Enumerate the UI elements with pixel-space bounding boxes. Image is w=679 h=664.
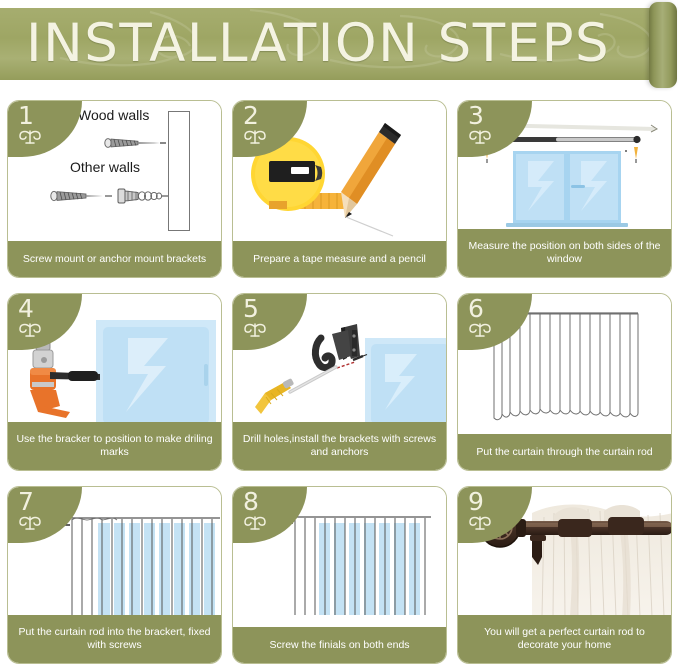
step-card-2[interactable]: 2 Prepare a tape measure and a pencil: [232, 100, 447, 278]
step-3-badge: 3: [458, 101, 532, 157]
window-icon: [365, 338, 446, 424]
step-number: 8: [243, 488, 259, 516]
fleur-de-lis-icon: [465, 513, 495, 533]
step-5-badge: 5: [233, 294, 307, 350]
step-5-caption: Drill holes,install the brackets with sc…: [233, 422, 446, 470]
step-number: 7: [18, 488, 34, 516]
fleur-de-lis-icon: [15, 320, 45, 340]
step-number: 3: [468, 102, 484, 130]
step-number: 9: [468, 488, 484, 516]
step-9-badge: 9: [458, 487, 532, 543]
banner-scroll-roll: [649, 2, 677, 88]
step-card-6[interactable]: 6 Put the curtain through the curtain ro…: [457, 293, 672, 471]
window-icon: [96, 320, 216, 424]
step-number: 2: [243, 102, 259, 130]
step-card-9[interactable]: 9 You will get a perfect curtain rod to …: [457, 486, 672, 664]
window-icon: [506, 151, 628, 227]
fleur-de-lis-icon: [240, 513, 270, 533]
step-1-badge: 1: [8, 101, 82, 157]
wood-screw-icon: [105, 139, 166, 148]
step-8-badge: 8: [233, 487, 307, 543]
header-banner: INSTALLATION STEPS: [0, 0, 679, 92]
step-6-badge: 6: [458, 294, 532, 350]
step-1-caption: Screw mount or anchor mount brackets: [8, 241, 221, 277]
page-title: INSTALLATION STEPS: [26, 12, 636, 78]
step-6-caption: Put the curtain through the curtain rod: [458, 434, 671, 470]
step-card-5[interactable]: 5 Drill holes,install the brackets with …: [232, 293, 447, 471]
step-number: 6: [468, 295, 484, 323]
curtain-pleats-icon: [293, 517, 433, 615]
fleur-de-lis-icon: [240, 127, 270, 147]
fleur-de-lis-icon: [465, 320, 495, 340]
step-3-caption: Measure the position on both sides of th…: [458, 229, 671, 277]
fleur-de-lis-icon: [465, 127, 495, 147]
step-card-7[interactable]: 7 Put the curtain rod into the brackert,…: [7, 486, 222, 664]
step-8-caption: Screw the finials on both ends: [233, 627, 446, 663]
steps-grid: Wood walls Other walls: [0, 92, 679, 659]
anchor-screw-icon: [51, 191, 112, 200]
step-card-3[interactable]: 3 Measure the position on both sides of …: [457, 100, 672, 278]
fleur-de-lis-icon: [15, 513, 45, 533]
step-number: 1: [18, 102, 34, 130]
step-4-caption: Use the bracker to position to make dril…: [8, 422, 221, 470]
fleur-de-lis-icon: [15, 127, 45, 147]
step-2-badge: 2: [233, 101, 307, 157]
step-7-badge: 7: [8, 487, 82, 543]
pencil-icon: [341, 123, 401, 236]
step-9-caption: You will get a perfect curtain rod to de…: [458, 615, 671, 663]
wall-anchor-icon: [118, 189, 168, 203]
fleur-de-lis-icon: [240, 320, 270, 340]
step-card-1[interactable]: Wood walls Other walls: [7, 100, 222, 278]
step-2-caption: Prepare a tape measure and a pencil: [233, 241, 446, 277]
curtain-pleats-icon: [70, 517, 220, 615]
screwdriver-icon: [255, 367, 336, 414]
step-number: 4: [18, 295, 34, 323]
step-card-8[interactable]: 8 Screw the finials on both ends: [232, 486, 447, 664]
curtain-bracket-icon: [315, 324, 360, 368]
step-number: 5: [243, 295, 259, 323]
step-7-caption: Put the curtain rod into the brackert, f…: [8, 615, 221, 663]
step-card-4[interactable]: 4 Use the bracker to position to make dr…: [7, 293, 222, 471]
step-4-badge: 4: [8, 294, 82, 350]
